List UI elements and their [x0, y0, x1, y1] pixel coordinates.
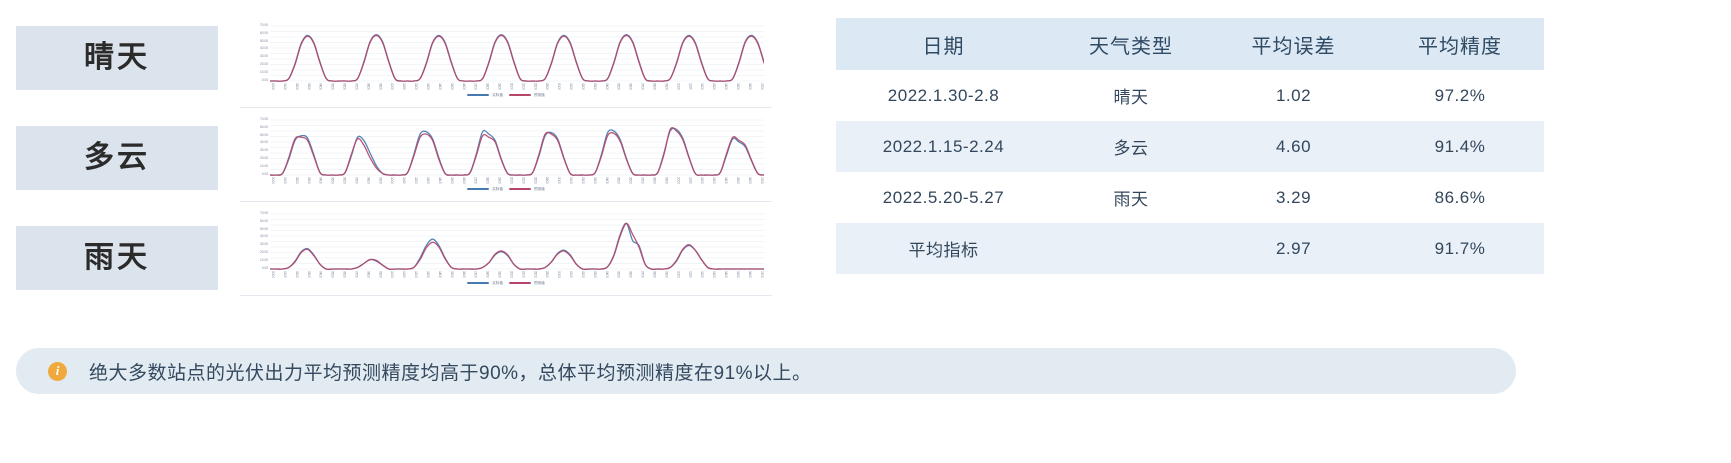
- x-axis-tick: 11:00: [687, 177, 692, 183]
- x-axis-tick: 19:00: [497, 177, 502, 184]
- x-axis-tick: 17:00: [473, 177, 478, 184]
- x-axis-tick: 18:00: [485, 271, 490, 278]
- x-axis-tick: 10:00: [389, 83, 394, 90]
- x-axis-tick: 06:00: [342, 83, 347, 90]
- x-axis-tick: 07:00: [353, 83, 358, 90]
- legend-label-actual: 实际值: [492, 93, 503, 97]
- cell-date: 平均指标: [836, 223, 1051, 274]
- x-axis-tick: 23:00: [544, 83, 549, 90]
- legend-item-predicted: 预测值: [509, 93, 545, 97]
- x-axis-tick: 09:00: [377, 177, 382, 184]
- x-axis-tick: 08:00: [652, 271, 657, 278]
- chart-y-axis: 70.0060.0050.0040.0030.0020.0010.000.00: [246, 24, 268, 82]
- x-axis-tick: 21:00: [520, 271, 525, 278]
- legend-label-predicted: 预测值: [534, 187, 545, 191]
- x-axis-tick: 22:00: [532, 271, 537, 278]
- cell-weather: [1051, 223, 1211, 274]
- y-axis-tick: 70.00: [260, 118, 268, 122]
- x-axis-tick: 00:00: [556, 83, 561, 90]
- x-axis-tick: 16:00: [747, 177, 752, 184]
- x-axis-tick: 14:00: [437, 177, 442, 184]
- table-row-summary: 平均指标 2.97 91.7%: [836, 223, 1544, 274]
- x-axis-tick: 14:00: [437, 271, 442, 278]
- x-axis-tick: 15:00: [449, 271, 454, 278]
- cell-date: 2022.1.30-2.8: [836, 70, 1051, 121]
- x-axis-tick: 09:00: [377, 271, 382, 278]
- chart-legend: 实际值 预测值: [240, 93, 772, 97]
- x-axis-tick: 20:00: [508, 271, 513, 278]
- x-axis-tick: 06:00: [342, 271, 347, 278]
- y-axis-tick: 60.00: [260, 220, 268, 224]
- x-axis-tick: 05:00: [330, 271, 335, 278]
- x-axis-tick: 17:00: [473, 83, 478, 90]
- x-axis-tick: 03:00: [306, 177, 311, 184]
- cell-weather: 雨天: [1051, 172, 1211, 223]
- x-axis-tick: 23:00: [544, 271, 549, 278]
- x-axis-tick: 08:00: [365, 271, 370, 278]
- rainy-chart-plot: [270, 212, 764, 270]
- x-axis-tick: 04:00: [604, 177, 609, 184]
- sunny-chart-panel: 70.0060.0050.0040.0030.0020.0010.000.00 …: [240, 20, 772, 108]
- y-axis-tick: 50.00: [260, 39, 268, 43]
- x-axis-tick: 17:00: [759, 177, 764, 184]
- x-axis-tick: 14:00: [723, 177, 728, 184]
- x-axis-tick: 10:00: [675, 83, 680, 90]
- x-axis-tick: 14:00: [437, 83, 442, 90]
- weather-label-text: 多云: [84, 143, 150, 173]
- cell-accuracy: 86.6%: [1376, 172, 1544, 223]
- x-axis-tick: 01:00: [568, 271, 573, 278]
- x-axis-tick: 01:00: [568, 177, 573, 184]
- y-axis-tick: 40.00: [260, 141, 268, 145]
- x-axis-tick: 11:00: [687, 271, 692, 277]
- x-axis-tick: 05:00: [616, 83, 621, 90]
- legend-item-actual: 实际值: [467, 93, 503, 97]
- x-axis-tick: 07:00: [640, 271, 645, 278]
- x-axis-tick: 02:00: [294, 83, 299, 90]
- x-axis-tick: 11:00: [401, 83, 406, 89]
- cell-error: 1.02: [1211, 70, 1376, 121]
- note-text: 绝大多数站点的光伏出力平均预测精度均高于90%，总体平均预测精度在91%以上。: [89, 358, 812, 385]
- y-axis-tick: 20.00: [260, 63, 268, 67]
- x-axis-tick: 01:00: [282, 271, 287, 278]
- sunny-chart-plot: [270, 24, 764, 82]
- x-axis-tick: 03:00: [592, 83, 597, 90]
- y-axis-tick: 0.00: [262, 266, 268, 270]
- x-axis-tick: 03:00: [592, 177, 597, 184]
- column-header-date[interactable]: 日期: [836, 18, 1051, 70]
- x-axis-tick: 16:00: [461, 177, 466, 184]
- results-table: 日期 天气类型 平均误差 平均精度 2022.1.30-2.8 晴天 1.02 …: [836, 18, 1544, 274]
- x-axis-tick: 10:00: [675, 271, 680, 278]
- cell-error: 3.29: [1211, 172, 1376, 223]
- x-axis-tick: 12:00: [699, 83, 704, 90]
- x-axis-tick: 16:00: [747, 83, 752, 90]
- x-axis-tick: 13:00: [425, 177, 430, 184]
- table-header-row: 日期 天气类型 平均误差 平均精度: [836, 18, 1544, 70]
- x-axis-tick: 13:00: [711, 271, 716, 278]
- x-axis-tick: 04:00: [604, 271, 609, 278]
- x-axis-tick: 04:00: [318, 271, 323, 278]
- x-axis-tick: 10:00: [675, 177, 680, 184]
- x-axis-tick: 02:00: [580, 271, 585, 278]
- weather-label-rainy: 雨天: [16, 226, 218, 290]
- cloudy-chart-plot: [270, 118, 764, 176]
- y-axis-tick: 70.00: [260, 212, 268, 216]
- cell-date: 2022.1.15-2.24: [836, 121, 1051, 172]
- y-axis-tick: 70.00: [260, 24, 268, 28]
- x-axis-tick: 20:00: [508, 177, 513, 184]
- weather-label-text: 晴天: [84, 43, 150, 73]
- legend-label-predicted: 预测值: [534, 281, 545, 285]
- y-axis-tick: 30.00: [260, 55, 268, 59]
- x-axis-tick: 11:00: [401, 271, 406, 277]
- x-axis-tick: 11:00: [687, 83, 692, 89]
- cell-error: 2.97: [1211, 223, 1376, 274]
- charts-column: 70.0060.0050.0040.0030.0020.0010.000.00 …: [240, 0, 780, 330]
- legend-swatch-actual: [467, 188, 489, 191]
- x-axis-tick: 19:00: [497, 83, 502, 90]
- y-axis-tick: 20.00: [260, 251, 268, 255]
- y-axis-tick: 0.00: [262, 172, 268, 176]
- x-axis-tick: 08:00: [365, 177, 370, 184]
- legend-item-actual: 实际值: [467, 281, 503, 285]
- cell-accuracy: 91.7%: [1376, 223, 1544, 274]
- y-axis-tick: 40.00: [260, 235, 268, 239]
- y-axis-tick: 10.00: [260, 259, 268, 263]
- x-axis-tick: 15:00: [449, 83, 454, 90]
- x-axis-tick: 01:00: [568, 83, 573, 90]
- x-axis-tick: 02:00: [294, 177, 299, 184]
- legend-swatch-actual: [467, 282, 489, 285]
- x-axis-tick: 05:00: [330, 177, 335, 184]
- rainy-chart-panel: 70.0060.0050.0040.0030.0020.0010.000.00 …: [240, 208, 772, 296]
- legend-label-actual: 实际值: [492, 187, 503, 191]
- x-axis-tick: 01:00: [282, 177, 287, 184]
- x-axis-tick: 15:00: [449, 177, 454, 184]
- cell-weather: 多云: [1051, 121, 1211, 172]
- x-axis-tick: 16:00: [747, 271, 752, 278]
- legend-swatch-predicted: [509, 188, 531, 191]
- x-axis-tick: 13:00: [425, 271, 430, 278]
- x-axis-tick: 12:00: [699, 271, 704, 278]
- note-bar: i 绝大多数站点的光伏出力平均预测精度均高于90%，总体平均预测精度在91%以上…: [16, 348, 1516, 394]
- table-body: 2022.1.30-2.8 晴天 1.02 97.2% 2022.1.15-2.…: [836, 70, 1544, 274]
- x-axis-tick: 00:00: [270, 83, 275, 90]
- x-axis-tick: 09:00: [663, 271, 668, 278]
- x-axis-tick: 07:00: [353, 271, 358, 278]
- chart-y-axis: 70.0060.0050.0040.0030.0020.0010.000.00: [246, 118, 268, 176]
- x-axis-tick: 14:00: [723, 271, 728, 278]
- x-axis-tick: 02:00: [580, 83, 585, 90]
- cell-date: 2022.5.20-5.27: [836, 172, 1051, 223]
- x-axis-tick: 13:00: [711, 177, 716, 184]
- x-axis-tick: 22:00: [532, 83, 537, 90]
- x-axis-tick: 12:00: [699, 177, 704, 184]
- x-axis-tick: 15:00: [735, 177, 740, 184]
- x-axis-tick: 02:00: [294, 271, 299, 278]
- cell-accuracy: 91.4%: [1376, 121, 1544, 172]
- x-axis-tick: 09:00: [663, 83, 668, 90]
- y-axis-tick: 0.00: [262, 78, 268, 82]
- x-axis-tick: 09:00: [377, 83, 382, 90]
- x-axis-tick: 21:00: [520, 83, 525, 90]
- x-axis-tick: 20:00: [508, 83, 513, 90]
- x-axis-tick: 09:00: [663, 177, 668, 184]
- x-axis-tick: 16:00: [461, 83, 466, 90]
- y-axis-tick: 10.00: [260, 71, 268, 75]
- x-axis-tick: 19:00: [497, 271, 502, 278]
- x-axis-tick: 23:00: [544, 177, 549, 184]
- x-axis-tick: 06:00: [628, 271, 633, 278]
- x-axis-tick: 18:00: [485, 83, 490, 90]
- y-axis-tick: 30.00: [260, 243, 268, 247]
- x-axis-tick: 00:00: [556, 177, 561, 184]
- weather-label-text: 雨天: [84, 243, 150, 273]
- x-axis-tick: 08:00: [652, 83, 657, 90]
- table-header: 日期 天气类型 平均误差 平均精度: [836, 18, 1544, 70]
- x-axis-tick: 07:00: [640, 83, 645, 90]
- x-axis-tick: 03:00: [592, 271, 597, 278]
- x-axis-tick: 10:00: [389, 177, 394, 184]
- x-axis-tick: 13:00: [711, 83, 716, 90]
- x-axis-tick: 00:00: [270, 271, 275, 278]
- x-axis-tick: 00:00: [556, 271, 561, 278]
- x-axis-tick: 05:00: [616, 177, 621, 184]
- x-axis-tick: 12:00: [413, 177, 418, 184]
- weather-label-sunny: 晴天: [16, 26, 218, 90]
- column-header-accuracy[interactable]: 平均精度: [1376, 18, 1544, 70]
- x-axis-tick: 06:00: [342, 177, 347, 184]
- column-header-error[interactable]: 平均误差: [1211, 18, 1376, 70]
- weather-label-column: 晴天 多云 雨天: [16, 0, 218, 330]
- y-axis-tick: 30.00: [260, 149, 268, 153]
- x-axis-tick: 04:00: [604, 83, 609, 90]
- y-axis-tick: 10.00: [260, 165, 268, 169]
- x-axis-tick: 12:00: [413, 271, 418, 278]
- x-axis-tick: 04:00: [318, 83, 323, 90]
- y-axis-tick: 50.00: [260, 133, 268, 137]
- x-axis-tick: 05:00: [330, 83, 335, 90]
- x-axis-tick: 18:00: [485, 177, 490, 184]
- cloudy-chart-panel: 70.0060.0050.0040.0030.0020.0010.000.00 …: [240, 114, 772, 202]
- chart-legend: 实际值 预测值: [240, 281, 772, 285]
- x-axis-tick: 05:00: [616, 271, 621, 278]
- chart-y-axis: 70.0060.0050.0040.0030.0020.0010.000.00: [246, 212, 268, 270]
- legend-item-predicted: 预测值: [509, 187, 545, 191]
- x-axis-tick: 08:00: [652, 177, 657, 184]
- x-axis-tick: 01:00: [282, 83, 287, 90]
- y-axis-tick: 60.00: [260, 32, 268, 36]
- y-axis-tick: 60.00: [260, 126, 268, 130]
- legend-label-actual: 实际值: [492, 281, 503, 285]
- y-axis-tick: 40.00: [260, 47, 268, 51]
- x-axis-tick: 15:00: [735, 271, 740, 278]
- x-axis-tick: 14:00: [723, 83, 728, 90]
- x-axis-tick: 07:00: [640, 177, 645, 184]
- x-axis-tick: 22:00: [532, 177, 537, 184]
- x-axis-tick: 17:00: [759, 83, 764, 90]
- x-axis-tick: 10:00: [389, 271, 394, 278]
- chart-x-axis: 00:0001:0002:0003:0004:0005:0006:0007:00…: [270, 83, 764, 92]
- content-area: 晴天 多云 雨天 70.0060.0050.0040.0030.0020.001…: [0, 0, 1731, 330]
- cell-accuracy: 97.2%: [1376, 70, 1544, 121]
- legend-item-actual: 实际值: [467, 187, 503, 191]
- x-axis-tick: 04:00: [318, 177, 323, 184]
- info-icon: i: [48, 362, 67, 381]
- x-axis-tick: 17:00: [759, 271, 764, 278]
- x-axis-tick: 11:00: [401, 177, 406, 183]
- x-axis-tick: 13:00: [425, 83, 430, 90]
- legend-label-predicted: 预测值: [534, 93, 545, 97]
- chart-legend: 实际值 预测值: [240, 187, 772, 191]
- x-axis-tick: 06:00: [628, 177, 633, 184]
- x-axis-tick: 16:00: [461, 271, 466, 278]
- x-axis-tick: 17:00: [473, 271, 478, 278]
- x-axis-tick: 03:00: [306, 83, 311, 90]
- legend-swatch-predicted: [509, 94, 531, 97]
- table-row: 2022.5.20-5.27 雨天 3.29 86.6%: [836, 172, 1544, 223]
- x-axis-tick: 12:00: [413, 83, 418, 90]
- x-axis-tick: 07:00: [353, 177, 358, 184]
- weather-label-cloudy: 多云: [16, 126, 218, 190]
- x-axis-tick: 21:00: [520, 177, 525, 184]
- column-header-weather[interactable]: 天气类型: [1051, 18, 1211, 70]
- legend-swatch-predicted: [509, 282, 531, 285]
- chart-x-axis: 00:0001:0002:0003:0004:0005:0006:0007:00…: [270, 271, 764, 280]
- table-row: 2022.1.30-2.8 晴天 1.02 97.2%: [836, 70, 1544, 121]
- x-axis-tick: 03:00: [306, 271, 311, 278]
- x-axis-tick: 06:00: [628, 83, 633, 90]
- x-axis-tick: 15:00: [735, 83, 740, 90]
- legend-swatch-actual: [467, 94, 489, 97]
- y-axis-tick: 50.00: [260, 227, 268, 231]
- chart-x-axis: 00:0001:0002:0003:0004:0005:0006:0007:00…: [270, 177, 764, 186]
- x-axis-tick: 00:00: [270, 177, 275, 184]
- legend-item-predicted: 预测值: [509, 281, 545, 285]
- cell-error: 4.60: [1211, 121, 1376, 172]
- x-axis-tick: 08:00: [365, 83, 370, 90]
- x-axis-tick: 02:00: [580, 177, 585, 184]
- y-axis-tick: 20.00: [260, 157, 268, 161]
- cell-weather: 晴天: [1051, 70, 1211, 121]
- table-row: 2022.1.15-2.24 多云 4.60 91.4%: [836, 121, 1544, 172]
